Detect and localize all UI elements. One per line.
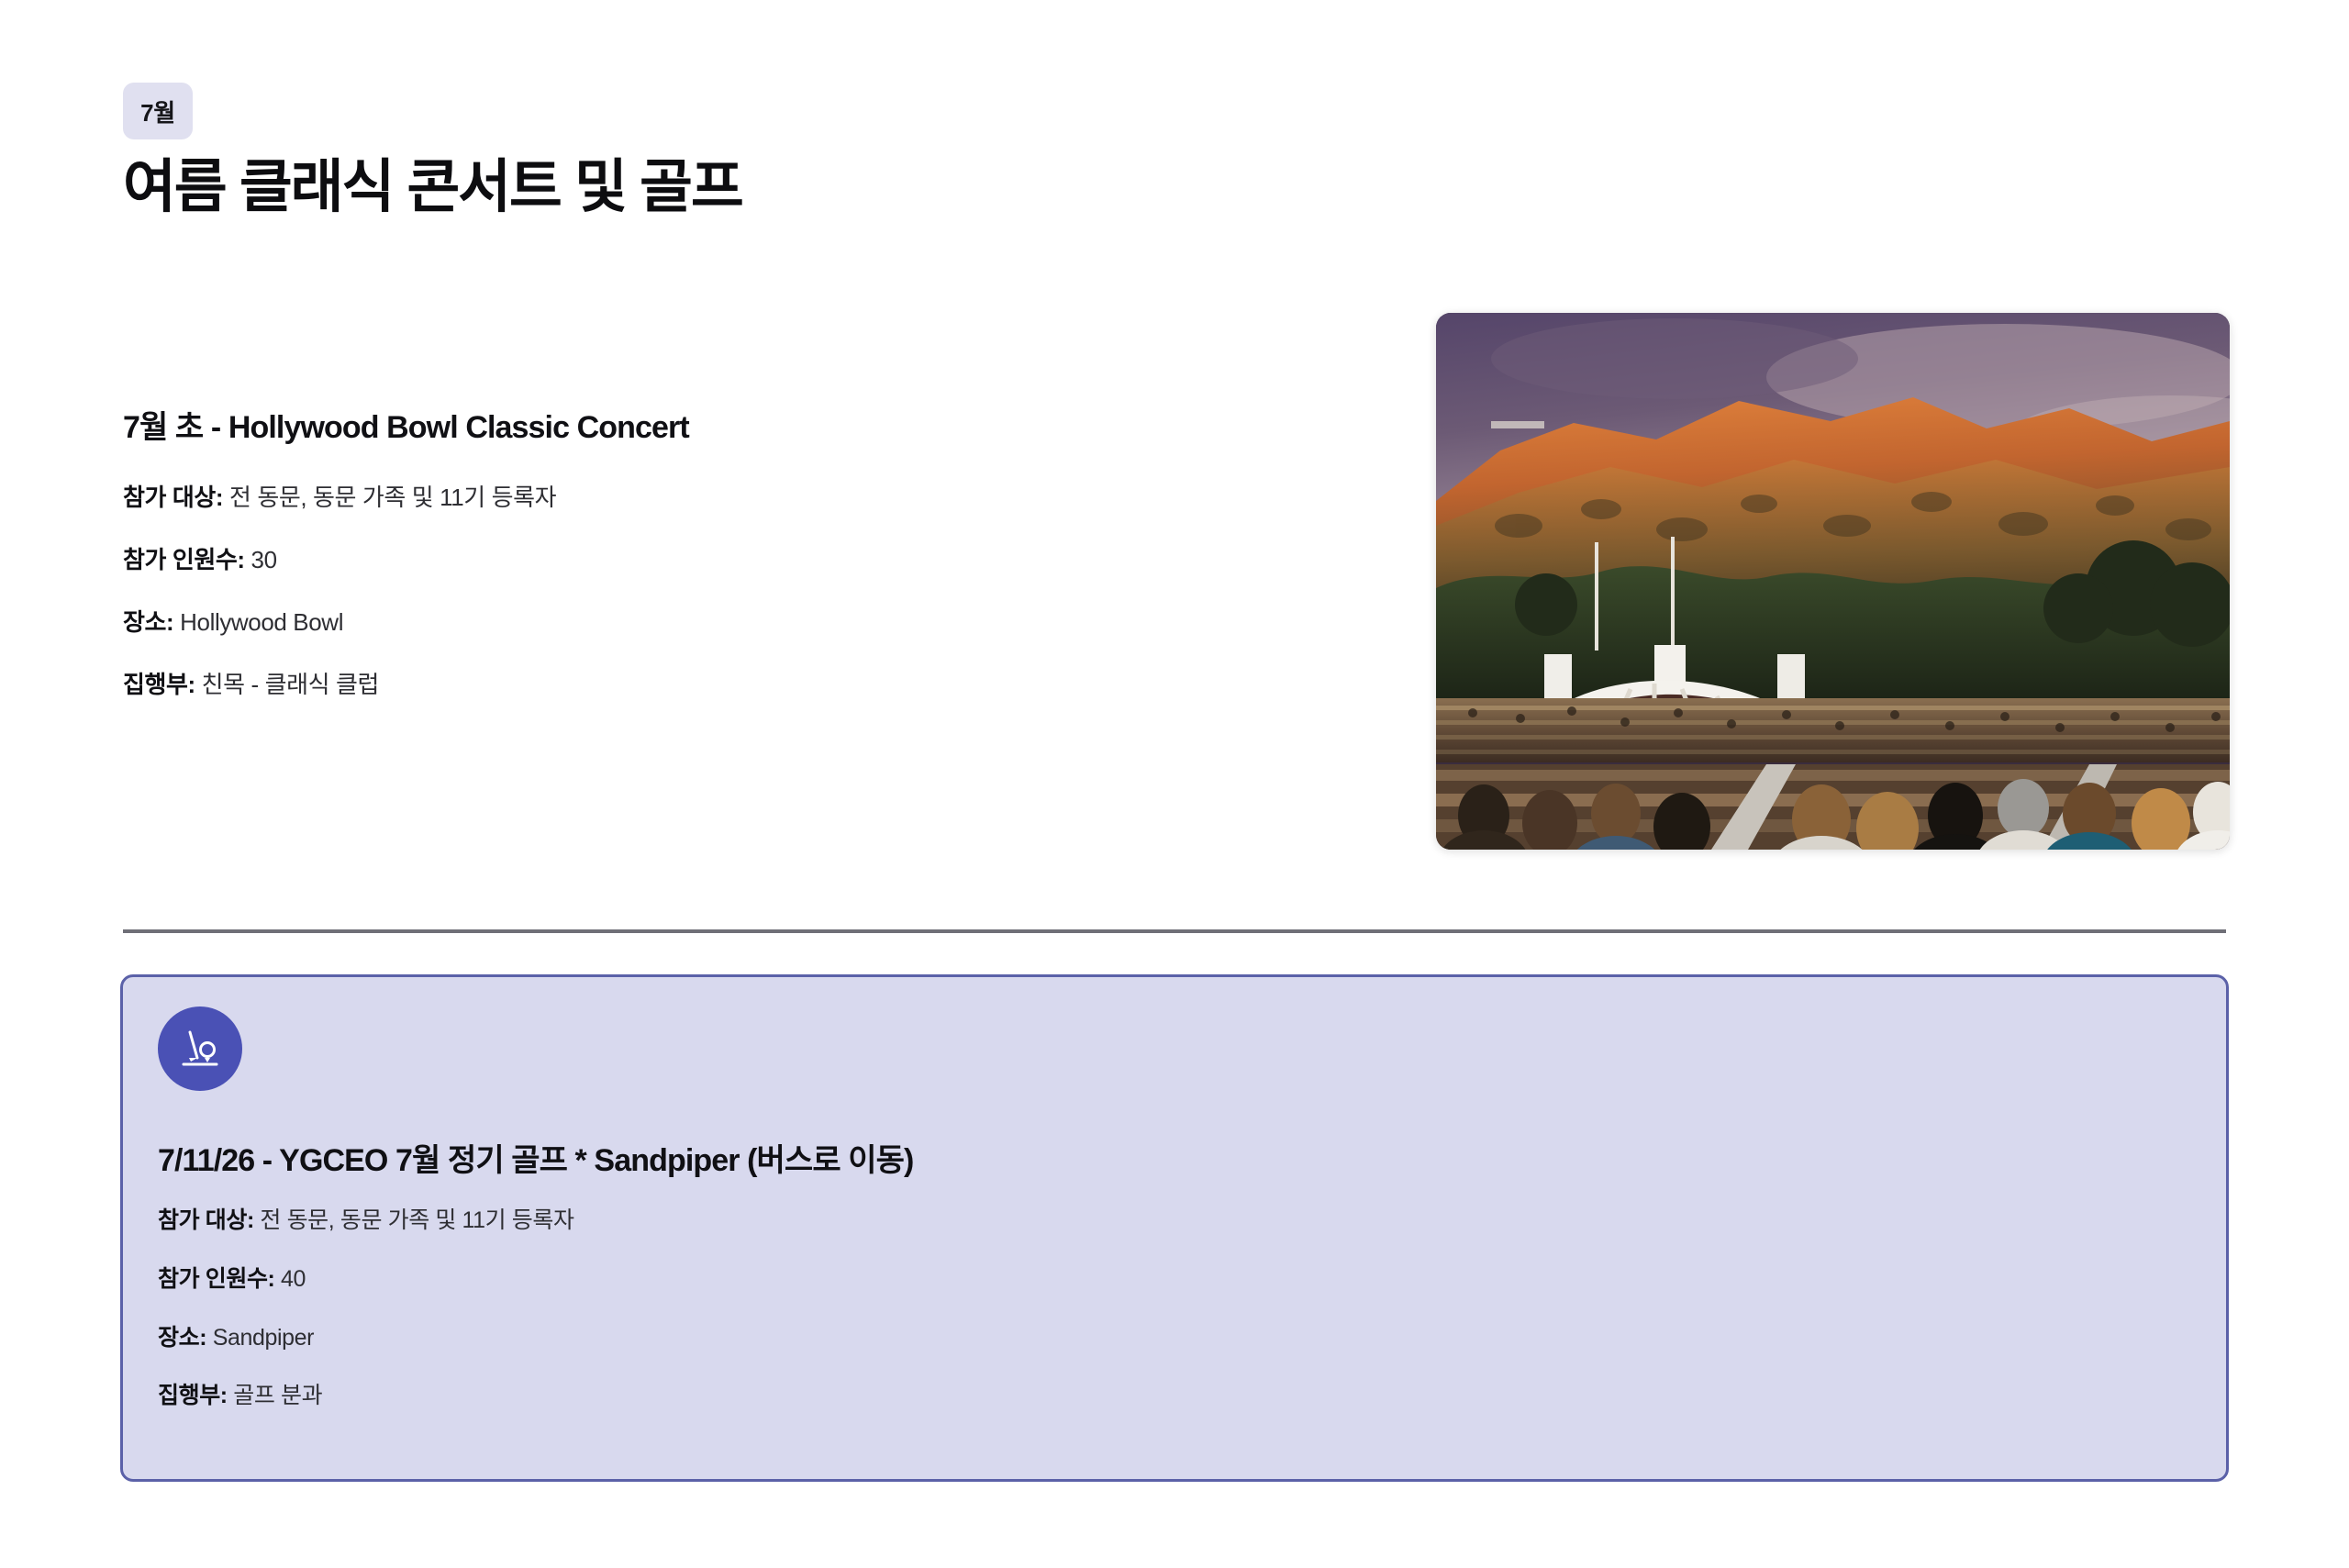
detail-value: 골프 분과 — [233, 1383, 322, 1408]
card-body: 7/11/26 - YGCEO 7월 정기 골프 * Sandpiper (버스… — [158, 1135, 2191, 1412]
detail-row: 장소: Hollywood Bowl — [123, 606, 1353, 639]
section-divider — [123, 929, 2226, 933]
detail-value: Sandpiper — [213, 1325, 314, 1351]
detail-label: 참가 인원수: — [158, 1266, 274, 1292]
detail-label: 장소: — [158, 1325, 206, 1351]
detail-row: 집행부: 친목 - 클래식 클럽 — [123, 669, 1353, 701]
month-badge: 7월 — [123, 83, 193, 139]
event-title: 7/11/26 - YGCEO 7월 정기 골프 * Sandpiper (버스… — [158, 1135, 2191, 1180]
detail-row: 집행부: 골프 분과 — [158, 1381, 2191, 1412]
detail-value: 전 동문, 동문 가족 및 11기 등록자 — [260, 1207, 573, 1233]
detail-value: 전 동문, 동문 가족 및 11기 등록자 — [229, 484, 556, 511]
detail-label: 참가 인원수: — [123, 546, 245, 573]
detail-value: 친목 - 클래식 클럽 — [202, 671, 379, 698]
detail-label: 집행부: — [123, 671, 195, 698]
detail-row: 참가 대상: 전 동문, 동문 가족 및 11기 등록자 — [123, 482, 1353, 514]
event-title: 7월 초 - Hollywood Bowl Classic Concert — [123, 402, 1353, 447]
detail-row: 참가 인원수: 30 — [123, 544, 1353, 576]
detail-label: 집행부: — [158, 1383, 228, 1408]
detail-label: 참가 대상: — [158, 1207, 254, 1233]
hollywood-bowl-photo — [1436, 313, 2230, 850]
event-card-golf[interactable]: 7/11/26 - YGCEO 7월 정기 골프 * Sandpiper (버스… — [120, 974, 2229, 1482]
detail-row: 장소: Sandpiper — [158, 1323, 2191, 1354]
golf-club-ball-icon — [158, 1006, 242, 1091]
detail-value: 40 — [281, 1266, 306, 1292]
event-block-concert: 7월 초 - Hollywood Bowl Classic Concert 참가… — [123, 402, 1353, 701]
page-root: 7월 여름 클래식 콘서트 및 골프 7월 초 - Hollywood Bowl… — [0, 0, 2349, 1568]
detail-value: Hollywood Bowl — [180, 608, 343, 636]
detail-row: 참가 인원수: 40 — [158, 1264, 2191, 1296]
detail-label: 참가 대상: — [123, 484, 223, 511]
detail-label: 장소: — [123, 608, 173, 636]
detail-row: 참가 대상: 전 동문, 동문 가족 및 11기 등록자 — [158, 1206, 2191, 1237]
detail-value: 30 — [251, 546, 277, 573]
page-title: 여름 클래식 콘서트 및 골프 — [123, 154, 742, 220]
